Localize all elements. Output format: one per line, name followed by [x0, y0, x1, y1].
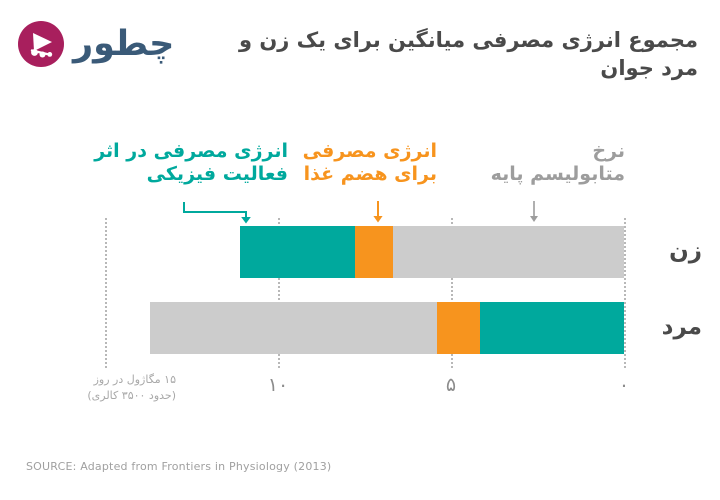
leader-line-bmr: [524, 200, 548, 226]
infographic-canvas: چطور مجموع انرژی مصرفی میانگین برای یک ز…: [0, 0, 720, 500]
axis-unit-note-line1: ۱۵ مگاژول در روز: [36, 372, 176, 388]
bar-segment-physical-activity-man[interactable]: [480, 302, 624, 354]
source-note: SOURCE: Adapted from Frontiers in Physio…: [26, 460, 331, 473]
bar-segment-bmr-woman[interactable]: [393, 226, 624, 278]
play-circle-logo-icon: [18, 21, 64, 67]
axis-tick-0: ۰: [601, 374, 647, 396]
header: چطور مجموع انرژی مصرفی میانگین برای یک ز…: [0, 0, 720, 88]
gridline-0: [624, 218, 626, 368]
category-label-woman: زن: [642, 238, 702, 264]
leader-line-physical-activity: [180, 196, 330, 228]
gridline-15: [105, 218, 107, 368]
axis-unit-note: ۱۵ مگاژول در روز (حدود ۳۵۰۰ کالری): [36, 372, 176, 404]
bar-segment-digestion-woman[interactable]: [355, 226, 393, 278]
gridline-10: [278, 218, 280, 368]
legend-label-bmr-line2: متابولیسم پایه: [465, 163, 625, 186]
legend-label-digestion: انرژی مصرفی برای هضم غذا: [297, 140, 437, 186]
bar-row-woman[interactable]: [240, 226, 624, 278]
legend-label-physical-activity-line2: فعالیت فیزیکی: [68, 163, 288, 186]
legend-label-physical-activity: انرژی مصرفی در اثر فعالیت فیزیکی: [68, 140, 288, 186]
legend-label-digestion-line2: برای هضم غذا: [297, 163, 437, 186]
legend-label-digestion-line1: انرژی مصرفی: [297, 140, 437, 163]
axis-tick-10: ۱۰: [255, 374, 301, 396]
bar-segment-digestion-man[interactable]: [437, 302, 480, 354]
legend-label-bmr: نرخ متابولیسم پایه: [465, 140, 625, 186]
bar-segment-physical-activity-woman[interactable]: [240, 226, 355, 278]
leader-line-digestion: [368, 200, 392, 226]
bar-row-man[interactable]: [150, 302, 624, 354]
legend-label-bmr-line1: نرخ: [465, 140, 625, 163]
bar-segment-bmr-man[interactable]: [150, 302, 437, 354]
brand-wordmark: چطور: [73, 27, 174, 62]
brand-logo[interactable]: چطور: [18, 14, 203, 74]
page-title: مجموع انرژی مصرفی میانگین برای یک زن و م…: [218, 26, 698, 83]
axis-tick-5: ۵: [428, 374, 474, 396]
gridline-5: [451, 218, 453, 368]
legend-label-physical-activity-line1: انرژی مصرفی در اثر: [68, 140, 288, 163]
axis-unit-note-line2: (حدود ۳۵۰۰ کالری): [36, 388, 176, 404]
category-label-man: مرد: [642, 314, 702, 340]
